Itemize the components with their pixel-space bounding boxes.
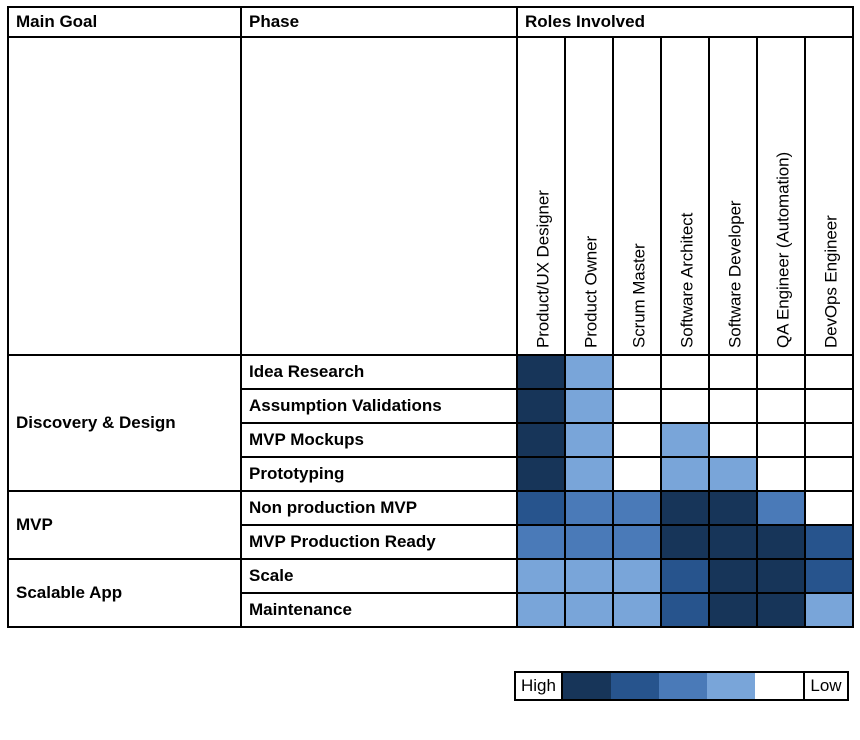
role-header-label: DevOps Engineer: [823, 215, 840, 348]
heat-cell-r4-c6: [805, 491, 853, 525]
phase-cell-3: Prototyping: [241, 457, 517, 491]
heat-cell-r2-c6: [805, 423, 853, 457]
role-header-3: Software Architect: [661, 37, 709, 355]
legend-low-label: Low: [803, 673, 847, 699]
heat-cell-r6-c4: [709, 559, 757, 593]
heat-cell-r1-c2: [613, 389, 661, 423]
heat-cell-r2-c1: [565, 423, 613, 457]
heat-cell-r1-c3: [661, 389, 709, 423]
heat-cell-r6-c1: [565, 559, 613, 593]
phase-cell-7: Maintenance: [241, 593, 517, 627]
phase-cell-5: MVP Production Ready: [241, 525, 517, 559]
heat-cell-r1-c6: [805, 389, 853, 423]
heat-cell-r2-c2: [613, 423, 661, 457]
roles-phase-matrix: Main Goal Phase Roles Involved Product/U…: [7, 6, 854, 628]
goal-cell-1: MVP: [8, 491, 241, 559]
heat-cell-r0-c2: [613, 355, 661, 389]
role-header-row: Product/UX DesignerProduct OwnerScrum Ma…: [8, 37, 853, 355]
heat-cell-r5-c5: [757, 525, 805, 559]
phase-cell-2: MVP Mockups: [241, 423, 517, 457]
heat-cell-r7-c5: [757, 593, 805, 627]
heat-cell-r5-c0: [517, 525, 565, 559]
goal-cell-0: Discovery & Design: [8, 355, 241, 491]
header-row: Main Goal Phase Roles Involved: [8, 7, 853, 37]
heat-cell-r7-c3: [661, 593, 709, 627]
heat-cell-r0-c0: [517, 355, 565, 389]
role-header-label: Software Architect: [679, 213, 696, 348]
heat-cell-r3-c1: [565, 457, 613, 491]
heat-cell-r3-c5: [757, 457, 805, 491]
role-header-label: Scrum Master: [631, 243, 648, 348]
heat-cell-r0-c5: [757, 355, 805, 389]
role-header-goal-blank: [8, 37, 241, 355]
heat-cell-r3-c0: [517, 457, 565, 491]
heatmap-page: Main Goal Phase Roles Involved Product/U…: [0, 0, 860, 740]
heat-cell-r4-c2: [613, 491, 661, 525]
role-header-5: QA Engineer (Automation): [757, 37, 805, 355]
heat-cell-r5-c3: [661, 525, 709, 559]
heat-cell-r6-c6: [805, 559, 853, 593]
heat-cell-r0-c4: [709, 355, 757, 389]
heat-cell-r3-c2: [613, 457, 661, 491]
role-header-4: Software Developer: [709, 37, 757, 355]
heat-cell-r2-c0: [517, 423, 565, 457]
phase-cell-1: Assumption Validations: [241, 389, 517, 423]
role-header-0: Product/UX Designer: [517, 37, 565, 355]
role-header-label: Product/UX Designer: [535, 190, 552, 348]
role-header-1: Product Owner: [565, 37, 613, 355]
table-row: Scalable AppScale: [8, 559, 853, 593]
phase-cell-0: Idea Research: [241, 355, 517, 389]
role-header-label: QA Engineer (Automation): [775, 152, 792, 348]
header-roles-involved: Roles Involved: [517, 7, 853, 37]
matrix-body: Main Goal Phase Roles Involved Product/U…: [8, 7, 853, 627]
role-header-6: DevOps Engineer: [805, 37, 853, 355]
heat-cell-r4-c5: [757, 491, 805, 525]
role-header-2: Scrum Master: [613, 37, 661, 355]
heat-cell-r2-c3: [661, 423, 709, 457]
heat-cell-r3-c3: [661, 457, 709, 491]
heat-cell-r7-c6: [805, 593, 853, 627]
heat-cell-r2-c5: [757, 423, 805, 457]
heat-cell-r4-c0: [517, 491, 565, 525]
heat-cell-r6-c2: [613, 559, 661, 593]
heat-cell-r4-c3: [661, 491, 709, 525]
role-header-phase-blank: [241, 37, 517, 355]
heat-cell-r3-c4: [709, 457, 757, 491]
heat-cell-r0-c3: [661, 355, 709, 389]
heat-cell-r2-c4: [709, 423, 757, 457]
heat-cell-r7-c2: [613, 593, 661, 627]
role-header-label: Product Owner: [583, 236, 600, 348]
heat-cell-r6-c0: [517, 559, 565, 593]
color-scale-legend: High Low: [514, 671, 849, 701]
heat-cell-r1-c4: [709, 389, 757, 423]
heat-cell-r7-c0: [517, 593, 565, 627]
legend-high-label: High: [516, 673, 563, 699]
heat-cell-r5-c4: [709, 525, 757, 559]
heat-cell-r3-c6: [805, 457, 853, 491]
legend-swatch-1: [611, 673, 659, 699]
table-row: MVPNon production MVP: [8, 491, 853, 525]
heat-cell-r4-c1: [565, 491, 613, 525]
heat-cell-r5-c2: [613, 525, 661, 559]
goal-cell-2: Scalable App: [8, 559, 241, 627]
legend-swatch-2: [659, 673, 707, 699]
heat-cell-r1-c1: [565, 389, 613, 423]
header-phase: Phase: [241, 7, 517, 37]
heat-cell-r5-c1: [565, 525, 613, 559]
heat-cell-r4-c4: [709, 491, 757, 525]
heat-cell-r1-c0: [517, 389, 565, 423]
phase-cell-4: Non production MVP: [241, 491, 517, 525]
legend-swatch-0: [563, 673, 611, 699]
heat-cell-r7-c1: [565, 593, 613, 627]
legend-swatch-4: [755, 673, 803, 699]
legend-swatch-3: [707, 673, 755, 699]
phase-cell-6: Scale: [241, 559, 517, 593]
heat-cell-r0-c1: [565, 355, 613, 389]
heat-cell-r6-c5: [757, 559, 805, 593]
heat-cell-r6-c3: [661, 559, 709, 593]
heat-cell-r7-c4: [709, 593, 757, 627]
heat-cell-r1-c5: [757, 389, 805, 423]
heat-cell-r5-c6: [805, 525, 853, 559]
role-header-label: Software Developer: [727, 201, 744, 349]
header-main-goal: Main Goal: [8, 7, 241, 37]
table-row: Discovery & DesignIdea Research: [8, 355, 853, 389]
heat-cell-r0-c6: [805, 355, 853, 389]
